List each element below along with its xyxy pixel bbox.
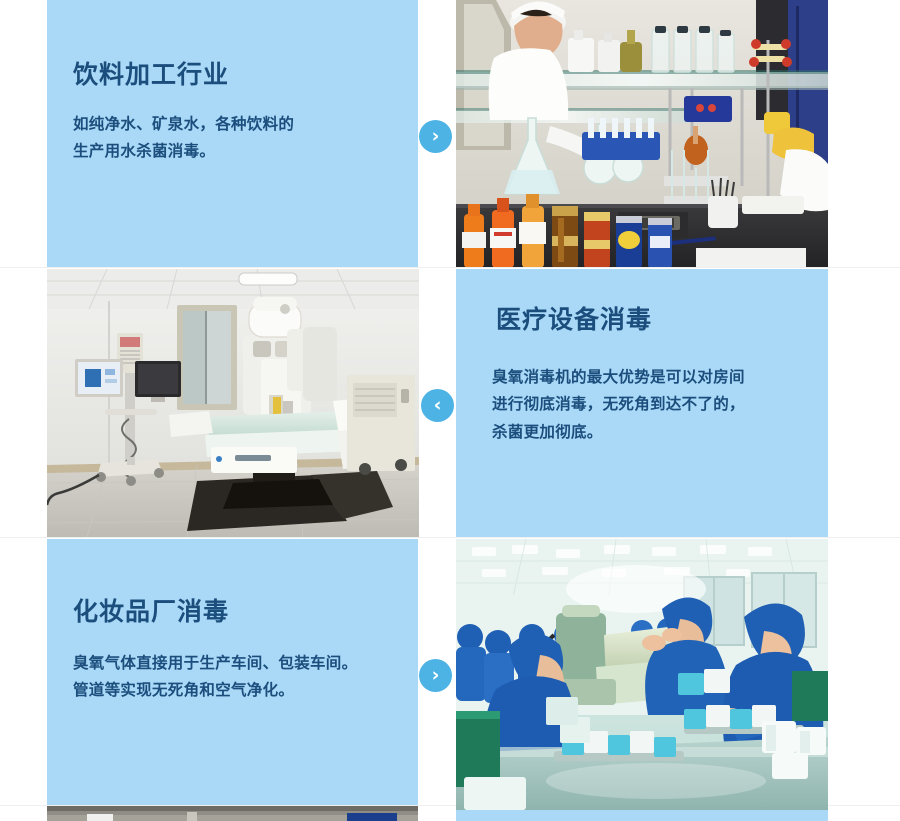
cosmetics-text-panel: 化妆品厂消毒 臭氧气体直接用于生产车间、包装车间。 管道等实现无死角和空气净化。 <box>47 539 418 806</box>
application-scenarios-page: 饮料加工行业 如纯净水、矿泉水，各种饮料的 生产用水杀菌消毒。 › <box>0 0 900 821</box>
chevron-right-icon: › <box>419 120 452 153</box>
cosmetics-title: 化妆品厂消毒 <box>73 597 418 628</box>
cosmetics-cleanroom-photo <box>456 539 828 810</box>
beverage-title: 饮料加工行业 <box>73 60 418 91</box>
chevron-right-icon: › <box>419 659 452 692</box>
chevron-left-icon: ‹ <box>421 389 454 422</box>
medical-body-line-1: 臭氧消毒机的最大优势是可以对房间 <box>492 364 828 391</box>
medical-body-line-2: 进行彻底消毒，无死角到达不了的， <box>492 391 828 418</box>
cosmetics-body: 臭氧气体直接用于生产车间、包装车间。 管道等实现无死角和空气净化。 <box>73 650 418 704</box>
medical-body: 臭氧消毒机的最大优势是可以对房间 进行彻底消毒，无死角到达不了的， 杀菌更加彻底… <box>492 364 828 445</box>
beverage-lab-photo <box>456 0 828 268</box>
medical-body-line-3: 杀菌更加彻底。 <box>492 419 828 446</box>
section-cosmetics: 化妆品厂消毒 臭氧气体直接用于生产车间、包装车间。 管道等实现无死角和空气净化。… <box>0 539 900 821</box>
row-divider <box>0 267 900 268</box>
beverage-body-line-2: 生产用水杀菌消毒。 <box>73 138 418 165</box>
beverage-body: 如纯净水、矿泉水，各种饮料的 生产用水杀菌消毒。 <box>73 111 418 165</box>
next-arrow-button[interactable]: › <box>419 120 452 153</box>
medical-title: 医疗设备消毒 <box>496 305 828 336</box>
next-section-photo <box>47 806 418 821</box>
cosmetics-body-line-1: 臭氧气体直接用于生产车间、包装车间。 <box>73 650 418 677</box>
next-arrow-button[interactable]: › <box>419 659 452 692</box>
cosmetics-body-line-2: 管道等实现无死角和空气净化。 <box>73 677 418 704</box>
beverage-text-panel: 饮料加工行业 如纯净水、矿泉水，各种饮料的 生产用水杀菌消毒。 <box>47 0 418 268</box>
medical-xray-room-photo <box>47 269 419 537</box>
beverage-body-line-1: 如纯净水、矿泉水，各种饮料的 <box>73 111 418 138</box>
section-medical: ‹ 医疗设备消毒 臭氧消毒机的最大优势是可以对房间 进行彻底消毒，无死角到达不了… <box>0 269 900 538</box>
section-beverage: 饮料加工行业 如纯净水、矿泉水，各种饮料的 生产用水杀菌消毒。 › <box>0 0 900 268</box>
prev-arrow-button[interactable]: ‹ <box>421 389 454 422</box>
row-divider <box>0 537 900 538</box>
medical-text-panel: 医疗设备消毒 臭氧消毒机的最大优势是可以对房间 进行彻底消毒，无死角到达不了的，… <box>456 269 828 537</box>
